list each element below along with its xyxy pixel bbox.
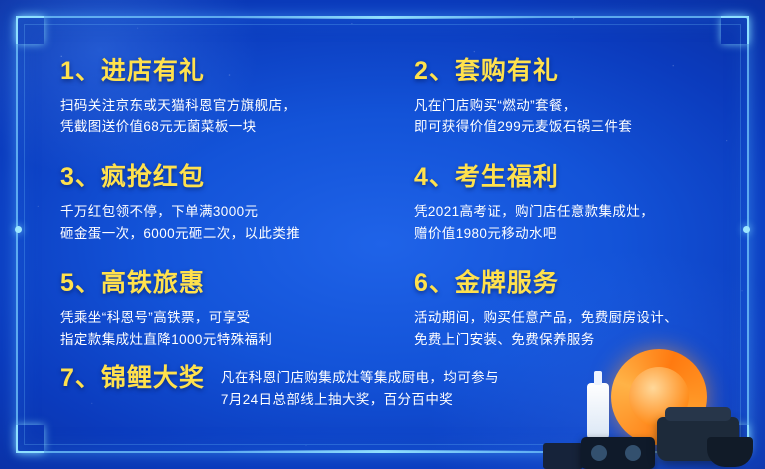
offer-7-title: 7、锦鲤大奖 [60, 365, 205, 393]
offer-item-3: 3、疯抢红包 千万红包领不停，下单满3000元 砸金蛋一次，6000元砸二次，以… [60, 164, 390, 244]
offer-2-line-1: 凡在门店购买“燃动”套餐， [414, 95, 744, 117]
offer-5-title: 5、高铁旅惠 [60, 270, 390, 298]
offer-4-description: 凭2021高考证，购门店任意款集成灶， 赠价值1980元移动水吧 [414, 201, 744, 245]
corner-notch-top-left [16, 16, 44, 44]
offer-1-description: 扫码关注京东或天猫科恩官方旗舰店， 凭截图送价值68元无菌菜板一块 [60, 95, 390, 139]
offer-3-number: 3、 [60, 163, 101, 191]
offer-3-line-1: 千万红包领不停，下单满3000元 [60, 201, 390, 223]
offer-item-4: 4、考生福利 凭2021高考证，购门店任意款集成灶， 赠价值1980元移动水吧 [414, 164, 744, 244]
top-accent-bar [222, 16, 543, 19]
offer-1-line-2: 凭截图送价值68元无菌菜板一块 [60, 116, 390, 138]
offer-7-number: 7、 [60, 364, 101, 392]
offer-item-1: 1、进店有礼 扫码关注京东或天猫科恩官方旗舰店， 凭截图送价值68元无菌菜板一块 [60, 58, 390, 138]
offer-5-number: 5、 [60, 269, 101, 297]
offer-item-6: 6、金牌服务 活动期间，购买任意产品，免费厨房设计、 免费上门安装、免费保养服务 [414, 270, 744, 350]
offer-2-heading: 套购有礼 [455, 57, 559, 85]
offer-2-number: 2、 [414, 57, 455, 85]
corner-notch-bottom-left [16, 425, 44, 453]
corner-notch-top-right [721, 16, 749, 44]
offer-7-line-2: 7月24日总部线上抽大奖，百分百中奖 [221, 389, 499, 411]
product-cluster-image [529, 345, 759, 469]
offer-3-heading: 疯抢红包 [101, 163, 205, 191]
integrated-stove-product [581, 437, 655, 469]
offer-4-title: 4、考生福利 [414, 164, 744, 192]
offer-4-heading: 考生福利 [455, 163, 559, 191]
offer-5-line-2: 指定款集成灶直降1000元特殊福利 [60, 329, 390, 351]
offer-2-description: 凡在门店购买“燃动”套餐， 即可获得价值299元麦饭石锅三件套 [414, 95, 744, 139]
offer-1-heading: 进店有礼 [101, 57, 205, 85]
offer-3-title: 3、疯抢红包 [60, 164, 390, 192]
water-dispenser-product [587, 383, 609, 439]
offer-7-line-1: 凡在科恩门店购集成灶等集成厨电，均可参与 [221, 367, 499, 389]
offer-3-description: 千万红包领不停，下单满3000元 砸金蛋一次，6000元砸二次，以此类推 [60, 201, 390, 245]
offer-6-line-1: 活动期间，购买任意产品，免费厨房设计、 [414, 307, 744, 329]
offer-6-heading: 金牌服务 [455, 269, 559, 297]
bottom-accent-bar [222, 450, 543, 453]
offer-column-left: 1、进店有礼 扫码关注京东或天猫科恩官方旗舰店， 凭截图送价值68元无菌菜板一块… [60, 58, 390, 377]
appliance-box-product [543, 443, 583, 469]
offer-7-description: 凡在科恩门店购集成灶等集成厨电，均可参与 7月24日总部线上抽大奖，百分百中奖 [221, 363, 499, 411]
offer-1-number: 1、 [60, 57, 101, 85]
promotion-poster: 1、进店有礼 扫码关注京东或天猫科恩官方旗舰店， 凭截图送价值68元无菌菜板一块… [0, 0, 765, 469]
offer-5-description: 凭乘坐“科恩号”高铁票，可享受 指定款集成灶直降1000元特殊福利 [60, 307, 390, 351]
offer-3-line-2: 砸金蛋一次，6000元砸二次，以此类推 [60, 223, 390, 245]
offer-column-right: 2、套购有礼 凡在门店购买“燃动”套餐， 即可获得价值299元麦饭石锅三件套 4… [414, 58, 744, 377]
offer-6-number: 6、 [414, 269, 455, 297]
offer-2-line-2: 即可获得价值299元麦饭石锅三件套 [414, 116, 744, 138]
offer-1-line-1: 扫码关注京东或天猫科恩官方旗舰店， [60, 95, 390, 117]
offer-4-number: 4、 [414, 163, 455, 191]
offer-5-line-1: 凭乘坐“科恩号”高铁票，可享受 [60, 307, 390, 329]
offer-7-heading: 锦鲤大奖 [101, 364, 205, 392]
offer-item-2: 2、套购有礼 凡在门店购买“燃动”套餐， 即可获得价值299元麦饭石锅三件套 [414, 58, 744, 138]
offer-6-title: 6、金牌服务 [414, 270, 744, 298]
offer-2-title: 2、套购有礼 [414, 58, 744, 86]
offer-5-heading: 高铁旅惠 [101, 269, 205, 297]
offer-item-5: 5、高铁旅惠 凭乘坐“科恩号”高铁票，可享受 指定款集成灶直降1000元特殊福利 [60, 270, 390, 350]
offer-1-title: 1、进店有礼 [60, 58, 390, 86]
offer-4-line-1: 凭2021高考证，购门店任意款集成灶， [414, 201, 744, 223]
edge-dot-left [15, 226, 22, 233]
edge-dot-right [743, 226, 750, 233]
cookware-pot-product [707, 437, 753, 467]
offer-4-line-2: 赠价值1980元移动水吧 [414, 223, 744, 245]
